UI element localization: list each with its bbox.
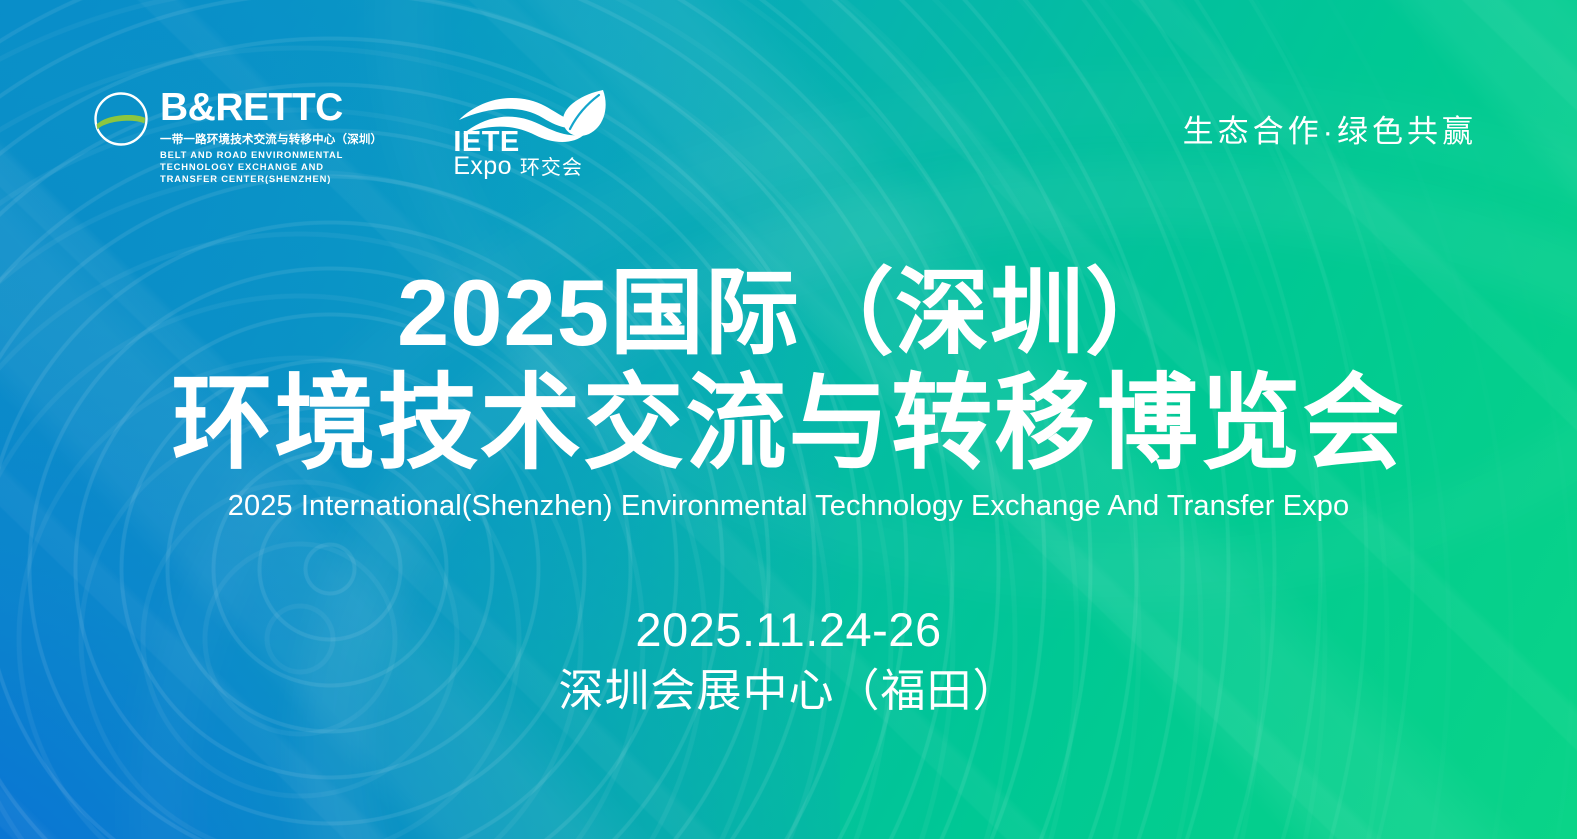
globe-icon: [92, 90, 150, 148]
brettc-text-block: B&RETTC 一带一路环境技术交流与转移中心（深圳） BELT AND ROA…: [160, 88, 382, 186]
header-slogan: 生态合作·绿色共赢: [1183, 106, 1477, 151]
iete-subtitle: Expo 环交会: [453, 154, 583, 179]
brettc-wordmark: B&RETTC: [160, 90, 382, 127]
brettc-name-en: BELT AND ROAD ENVIRONMENTAL TECHNOLOGY E…: [160, 149, 360, 186]
title-chinese-line-2: 环境技术交流与转移博览会: [24, 372, 1554, 476]
iete-sub-cn: 环交会: [520, 158, 583, 178]
logo-divider: [416, 88, 417, 186]
brettc-name-cn: 一带一路环境技术交流与转移中心（深圳）: [160, 131, 382, 147]
logo-group: B&RETTC 一带一路环境技术交流与转移中心（深圳） BELT AND ROA…: [92, 88, 611, 186]
iete-sub-en: Expo: [453, 154, 512, 179]
banner-header: B&RETTC 一带一路环境技术交流与转移中心（深圳） BELT AND ROA…: [0, 0, 1577, 210]
event-date: 2025.11.24-26: [0, 606, 1577, 653]
event-venue: 深圳会展中心（福田）: [0, 668, 1577, 713]
expo-banner: B&RETTC 一带一路环境技术交流与转移中心（深圳） BELT AND ROA…: [0, 0, 1577, 839]
title-english: 2025 International(Shenzhen) Environment…: [0, 492, 1577, 521]
title-chinese-line-1: 2025国际（深圳）: [0, 266, 1577, 360]
logo-brettc[interactable]: B&RETTC 一带一路环境技术交流与转移中心（深圳） BELT AND ROA…: [92, 88, 382, 186]
logo-iete-expo[interactable]: IETE Expo 环交会: [451, 84, 611, 182]
